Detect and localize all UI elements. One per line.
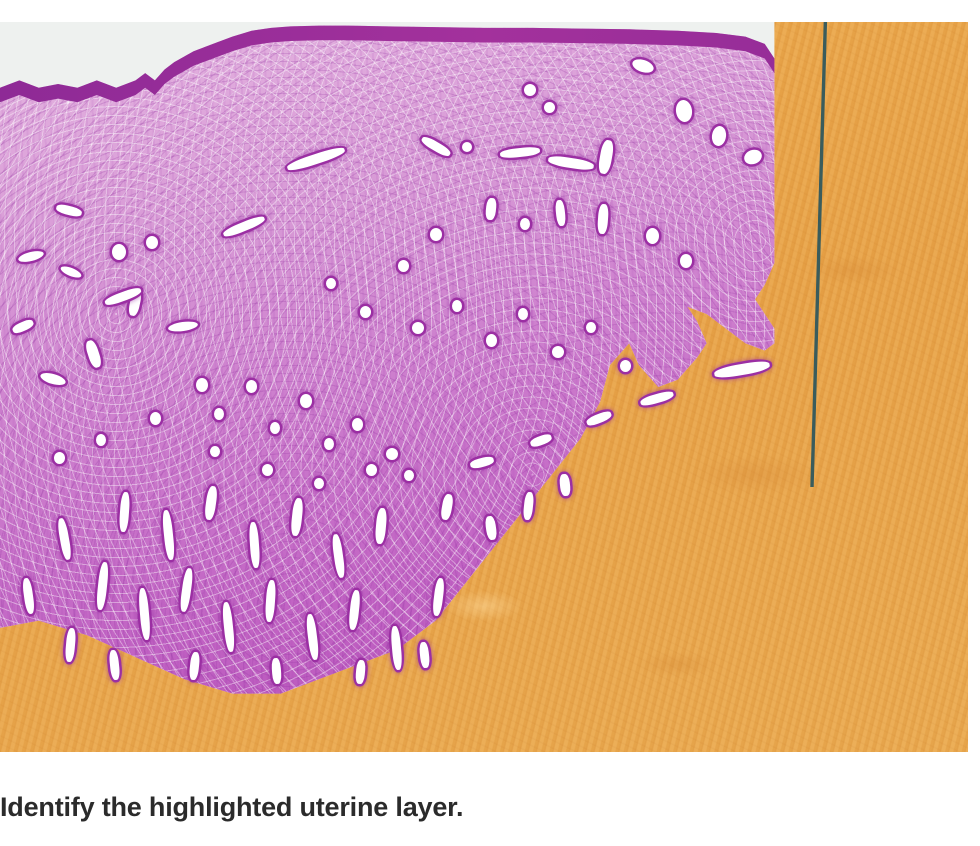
- question-caption: Identify the highlighted uterine layer.: [0, 790, 980, 824]
- slide-viewport: [0, 22, 968, 752]
- histology-figure: [0, 0, 980, 756]
